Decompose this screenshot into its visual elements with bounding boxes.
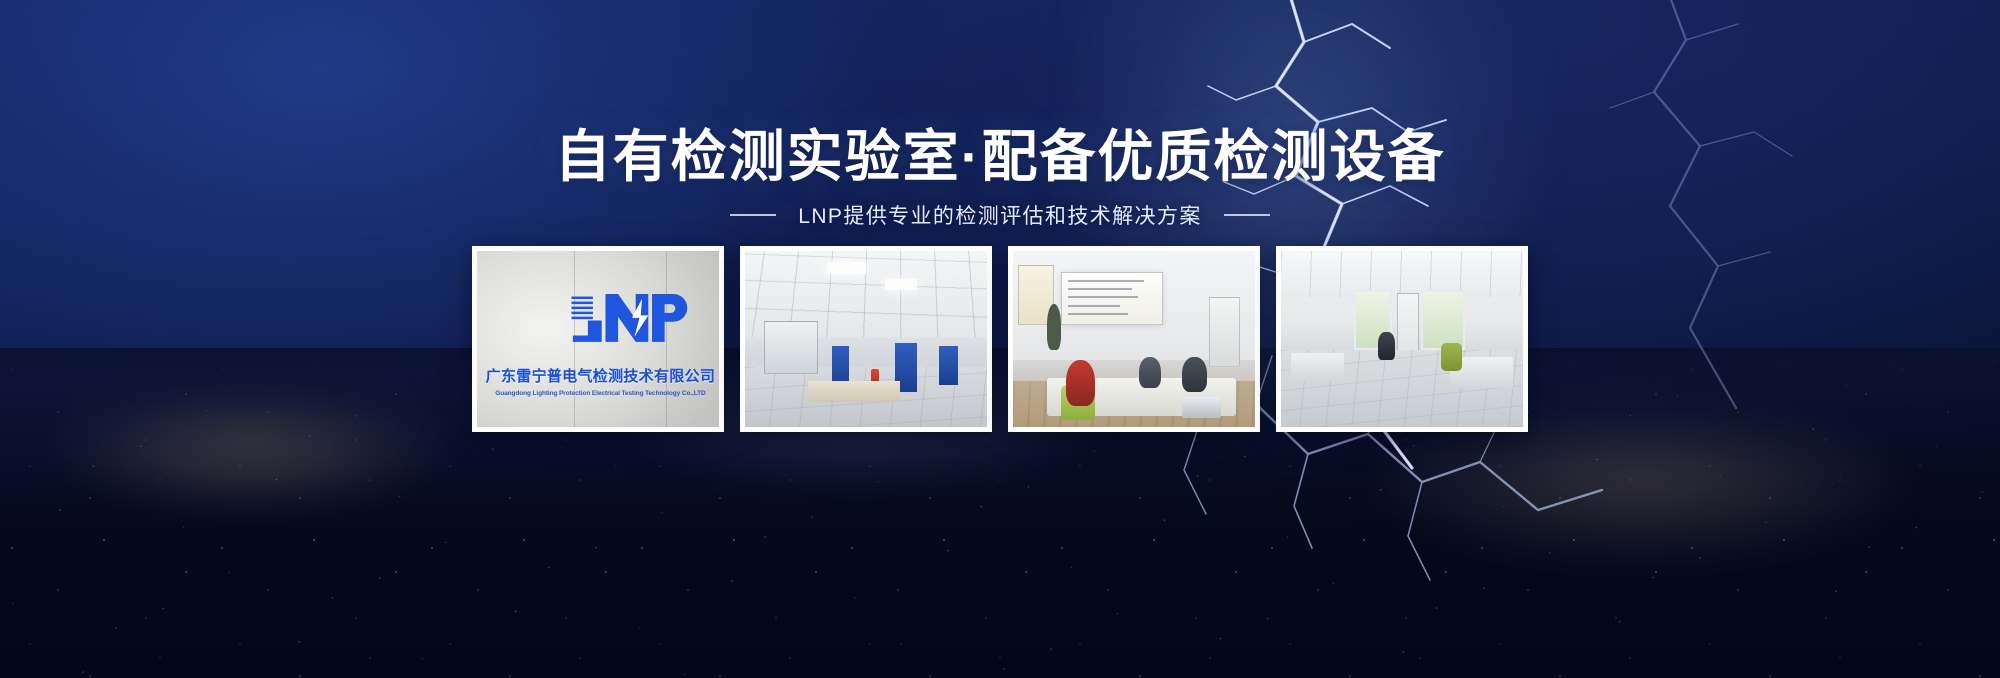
slide-text-line <box>1068 296 1138 298</box>
photo-card-laboratory[interactable] <box>740 246 992 432</box>
photo-card-office[interactable] <box>1276 246 1528 432</box>
signage-caption-en: Guangdong Lighting Protection Electrical… <box>492 390 710 397</box>
ceiling-light-panel <box>827 262 866 274</box>
person-seated-grey <box>1139 357 1161 389</box>
photo-image-laboratory <box>745 251 987 427</box>
laptop <box>1182 397 1221 418</box>
office-chair <box>1441 343 1463 371</box>
photo-card-signage[interactable]: 广东雷宁普电气检测技术有限公司 Guangdong Lighting Prote… <box>472 246 724 432</box>
lnp-logo-icon <box>569 286 695 351</box>
slide-text-line <box>1068 280 1144 282</box>
banner-subtitle-row: LNP提供专业的检测评估和技术解决方案 <box>0 200 2000 230</box>
photo-gallery: 广东雷宁普电气检测技术有限公司 Guangdong Lighting Prote… <box>0 246 2000 432</box>
photo-image-signage: 广东雷宁普电气检测技术有限公司 Guangdong Lighting Prote… <box>477 251 719 427</box>
dash-right-decoration <box>1224 214 1270 216</box>
storage-cabinet <box>1209 297 1240 367</box>
ceiling-light-panel <box>885 279 916 290</box>
photo-card-meeting[interactable] <box>1008 246 1260 432</box>
projection-screen <box>1061 272 1163 325</box>
dash-left-decoration <box>730 214 776 216</box>
slide-text-line <box>1068 313 1128 315</box>
person-seated-dark <box>1182 357 1206 392</box>
person-presenting <box>1047 304 1062 350</box>
person-seated-red <box>1066 360 1095 406</box>
slide-text-line <box>1068 288 1132 290</box>
hero-banner: 自有检测实验室·配备优质检测设备 LNP提供专业的检测评估和技术解决方案 <box>0 0 2000 678</box>
workbench <box>808 381 900 402</box>
office-window <box>1421 290 1465 350</box>
person-at-desk <box>1378 332 1395 360</box>
photo-image-office <box>1281 251 1523 427</box>
banner-headline: 自有检测实验室·配备优质检测设备 <box>0 112 2000 193</box>
blue-equipment-unit <box>939 346 958 385</box>
test-equipment-cabinet <box>764 321 817 374</box>
banner-subtitle: LNP提供专业的检测评估和技术解决方案 <box>798 200 1201 230</box>
photo-image-meeting <box>1013 251 1255 427</box>
signage-caption-cn: 广东雷宁普电气检测技术有限公司 <box>492 362 710 390</box>
office-desk <box>1291 353 1344 381</box>
ceiling-grid <box>1281 251 1523 297</box>
slide-text-line <box>1068 305 1120 307</box>
